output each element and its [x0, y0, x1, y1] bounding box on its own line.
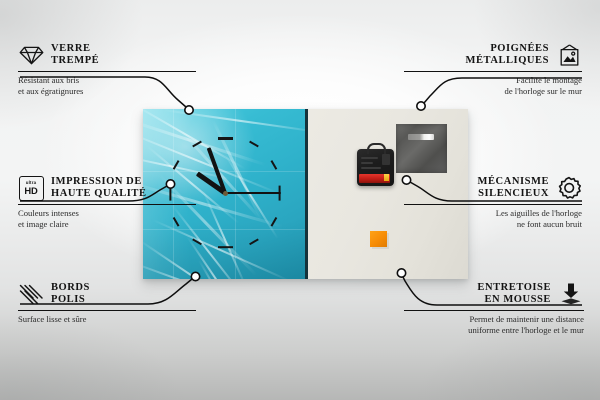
clock-center-cap [223, 191, 228, 196]
infographic-canvas: VERRE TREMPÉ Résistant aux bris et aux é… [0, 0, 600, 400]
movement-hanger-loop [367, 143, 386, 154]
feature-title: VERRE TREMPÉ [51, 43, 99, 67]
feature-title: POIGNÉES MÉTALLIQUES [466, 43, 549, 67]
feature-rule [18, 71, 196, 72]
ultra-hd-large-text: HD [24, 186, 37, 195]
feature-title: ENTRETOISE EN MOUSSE [477, 282, 551, 306]
hanging-frame-icon [556, 42, 582, 68]
feature-rule [404, 310, 584, 311]
feature-title: IMPRESSION DE HAUTE QUALITÉ [51, 176, 147, 200]
polished-edges-icon [18, 281, 44, 307]
clock-tick [218, 137, 233, 139]
feature-verre-trempe: VERRE TREMPÉ Résistant aux bris et aux é… [18, 42, 196, 96]
feature-bords-polis: BORDS POLIS Surface lisse et sûre [18, 281, 196, 325]
feature-title: MÉCANISME SILENCIEUX [478, 176, 549, 200]
feature-subtitle: Couleurs intenses et image claire [18, 208, 196, 229]
feature-title: BORDS POLIS [51, 282, 90, 306]
hanging-plate [396, 124, 447, 173]
feature-subtitle: Facilite le montage de l'horloge sur le … [404, 75, 582, 96]
feature-rule [404, 71, 582, 72]
feature-rule [18, 310, 196, 311]
foam-spacer [370, 231, 387, 247]
feature-rule [18, 204, 196, 205]
diamond-icon [18, 42, 44, 68]
feature-entretoise-en-mousse: ENTRETOISE EN MOUSSE Permet de maintenir… [404, 281, 584, 335]
gear-icon [556, 175, 582, 201]
down-arrow-pad-icon [558, 281, 584, 307]
battery [359, 174, 390, 183]
feature-subtitle: Les aiguilles de l'horloge ne font aucun… [404, 208, 582, 229]
hanging-plate-slot [408, 134, 434, 140]
feature-subtitle: Permet de maintenir une distance uniform… [404, 314, 584, 335]
feature-subtitle: Surface lisse et sûre [18, 314, 196, 324]
ultra-hd-icon: ultra HD [18, 175, 44, 201]
feature-mecanisme-silencieux: MÉCANISME SILENCIEUX Les aiguilles de l'… [404, 175, 582, 229]
battery-positive-tip [384, 174, 389, 181]
feature-rule [404, 204, 582, 205]
quartz-movement [357, 149, 394, 186]
feature-subtitle: Résistant aux bris et aux égratignures [18, 75, 196, 96]
feature-poignees-metalliques: POIGNÉES MÉTALLIQUES Facilite le montage… [404, 42, 582, 96]
feature-impression-haute-qualite: ultra HD IMPRESSION DE HAUTE QUALITÉ Cou… [18, 175, 196, 229]
